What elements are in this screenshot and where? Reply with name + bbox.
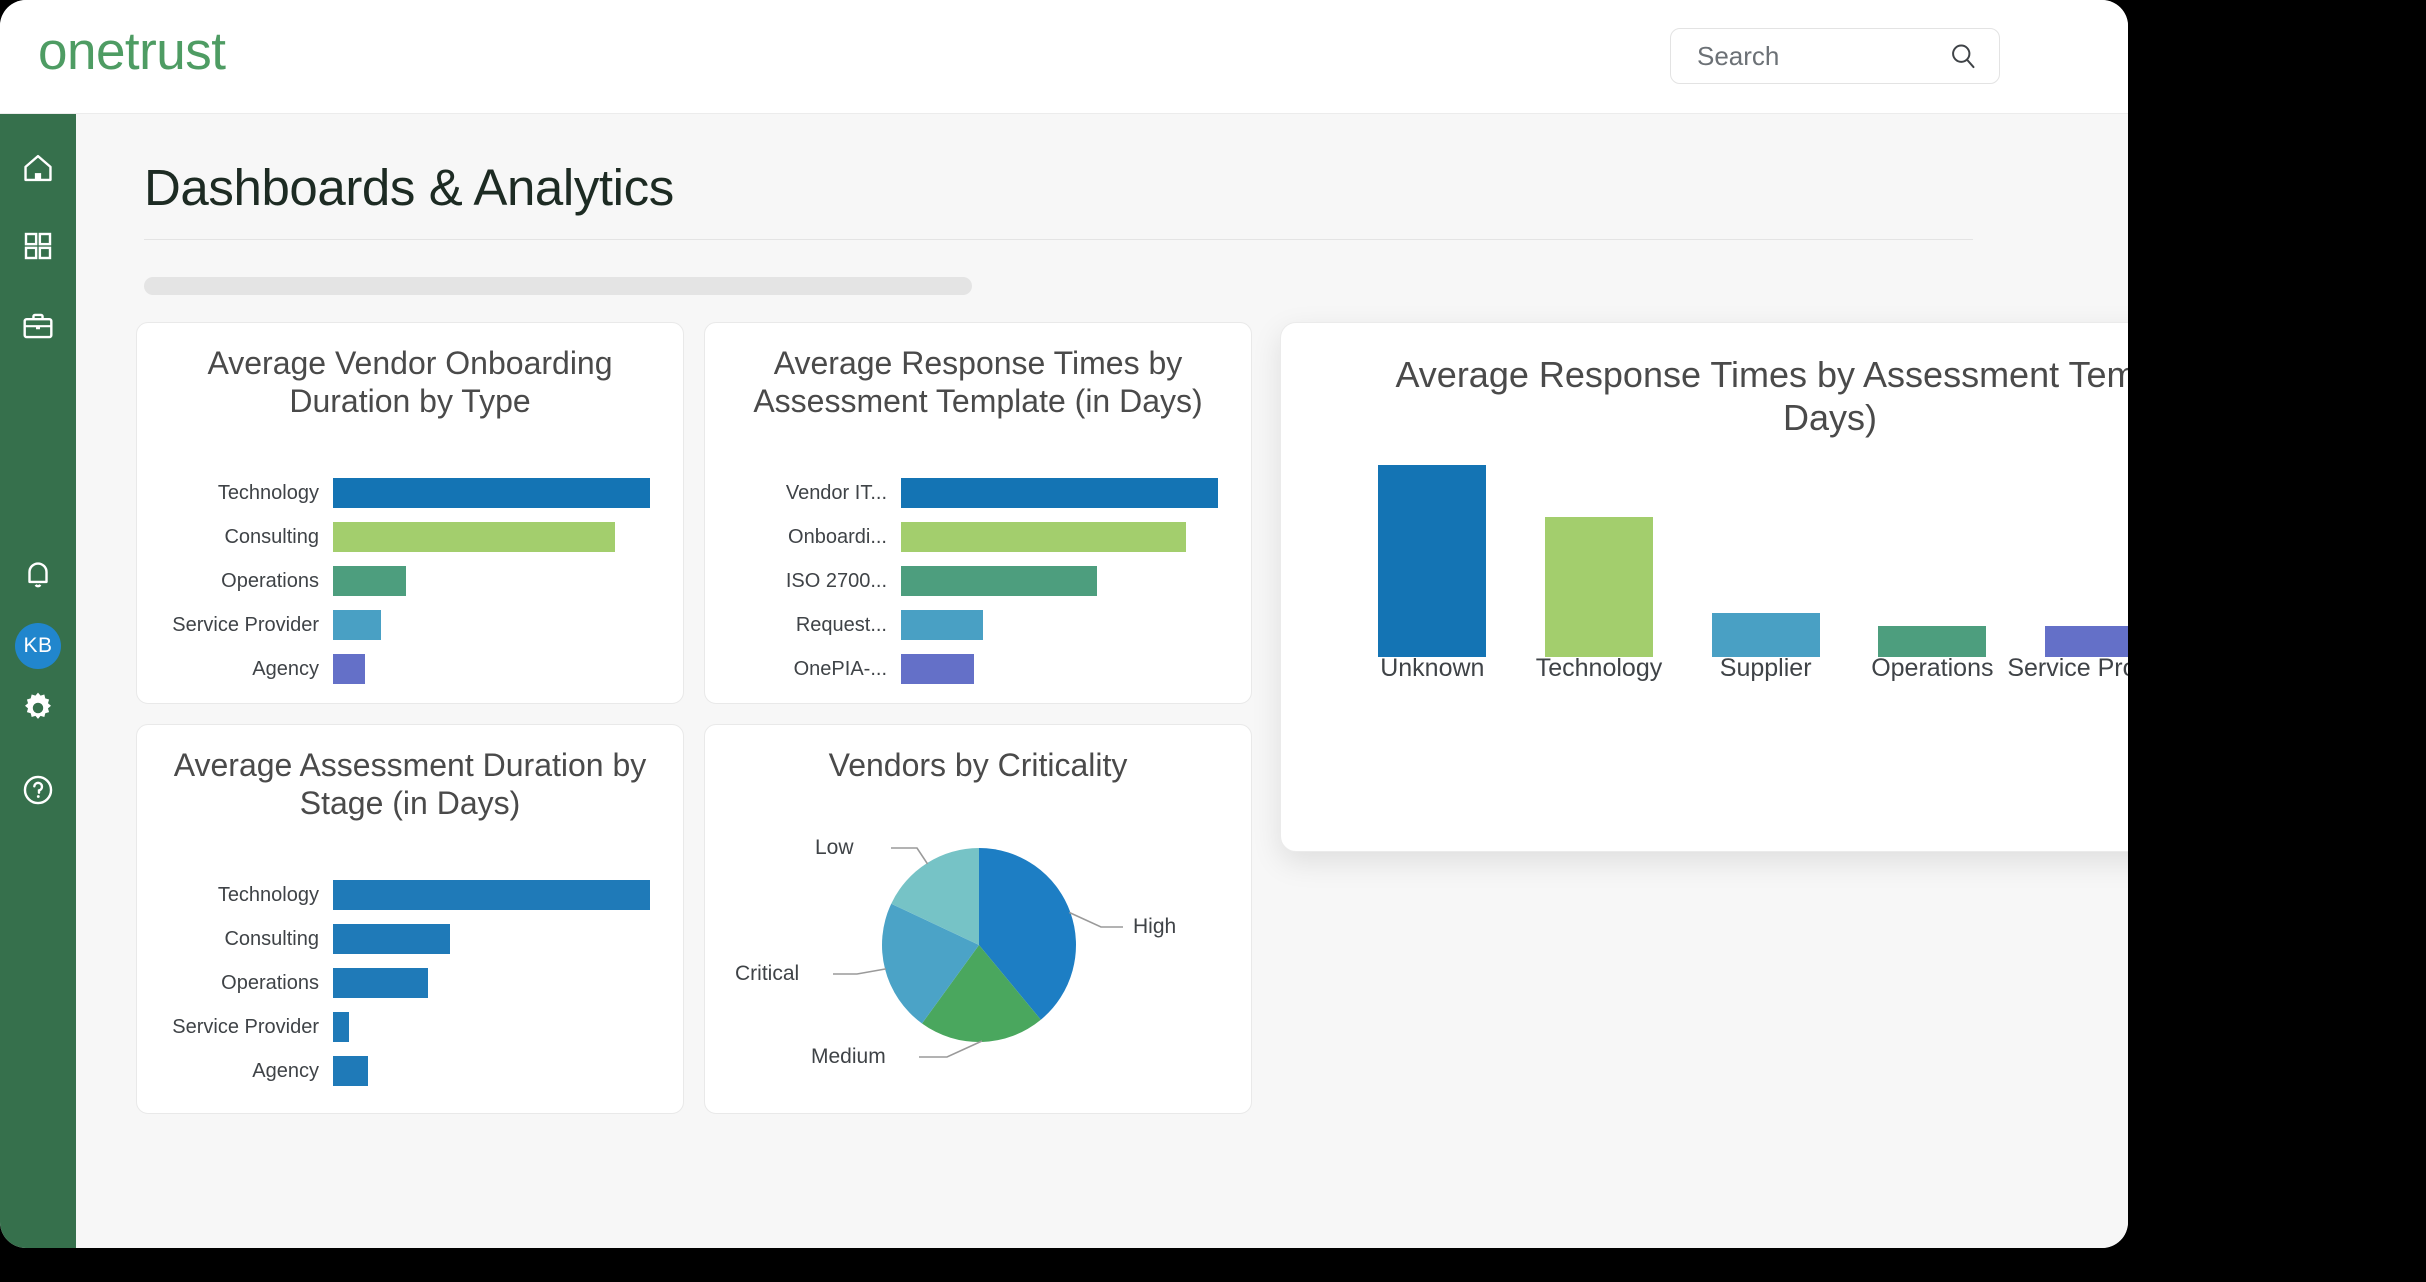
bar-track [333,515,683,559]
bar-fill[interactable] [333,566,406,596]
bar-track [333,1049,683,1093]
horizontal-bar-chart: TechnologyConsultingOperationsService Pr… [137,471,683,691]
bar-label: Consulting [137,928,333,951]
app-window: onetrust [0,0,2128,1248]
filter-bar-placeholder[interactable] [144,277,972,295]
bar-row: OnePIA-... [705,647,1251,691]
bar-row: Agency [137,1049,683,1093]
bar-row: Service Provider [137,603,683,647]
bar-fill[interactable] [901,478,1218,508]
avatar: KB [15,623,61,669]
bar-track [333,559,683,603]
bar-track [901,471,1251,515]
pie-leader-line [833,969,886,974]
bar-column: Supplier [1682,443,1849,743]
bar-label: Consulting [137,526,333,549]
panel-response-times-large[interactable]: Average Response Times by Assessment Tem… [1280,322,2128,852]
pie-slice-label: Critical [735,962,799,986]
bar-row: Agency [137,647,683,691]
bar-column: Unknown [1349,443,1516,743]
bar-row: Consulting [137,515,683,559]
bar-label: Service Provider [137,614,333,637]
panel-title: Average Response Times by Assessment Tem… [1371,353,2128,439]
card-vendor-onboarding[interactable]: Average Vendor Onboarding Duration by Ty… [136,322,684,704]
search-box[interactable] [1670,28,2000,84]
bar-fill[interactable] [333,880,650,910]
bar-fill[interactable] [333,610,381,640]
sidebar-item-notifications[interactable] [0,542,76,606]
bar-track [901,515,1251,559]
bar-fill[interactable] [1378,465,1486,657]
bar-label: OnePIA-... [705,658,901,681]
bar-label: Technology [1536,654,1662,683]
bar-label: Unknown [1380,654,1484,683]
card-assessment-duration[interactable]: Average Assessment Duration by Stage (in… [136,724,684,1114]
bar-track [333,471,683,515]
bar-label: Vendor IT... [705,482,901,505]
card-title: Average Assessment Duration by Stage (in… [161,747,659,823]
bar-fill[interactable] [333,478,650,508]
bar-label: Agency [137,658,333,681]
card-title: Average Response Times by Assessment Tem… [729,345,1227,421]
pie-svg [705,835,1253,1075]
brand-logo[interactable]: onetrust [38,25,226,78]
bar-row: Technology [137,471,683,515]
bar-track [333,603,683,647]
page-title: Dashboards & Analytics [144,158,674,217]
bar-label: Service Provider [137,1016,333,1039]
pie-leader-line [1069,912,1123,927]
bar-track [333,961,683,1005]
card-title: Vendors by Criticality [729,747,1227,785]
bar-label: Operations [137,972,333,995]
bar-column: Service Provider [2016,443,2128,743]
horizontal-bar-chart: Vendor IT...Onboardi...ISO 2700...Reques… [705,471,1251,691]
bell-icon [21,557,55,591]
search-input[interactable] [1697,29,1937,83]
horizontal-bar-chart: TechnologyConsultingOperationsService Pr… [137,873,683,1093]
bar-fill[interactable] [901,522,1186,552]
bar-fill[interactable] [333,522,615,552]
bar-column: Operations [1849,443,2016,743]
grid-icon [22,230,54,262]
bar-row: Request... [705,603,1251,647]
card-title: Average Vendor Onboarding Duration by Ty… [161,345,659,421]
bar-fill[interactable] [901,654,974,684]
home-icon [21,151,55,185]
card-vendors-by-criticality[interactable]: Vendors by Criticality HighMediumCritica… [704,724,1252,1114]
bar-track [901,559,1251,603]
sidebar: KB [0,114,76,1248]
bar-fill[interactable] [333,968,428,998]
sidebar-item-dashboards[interactable] [0,214,76,278]
bar-label: Supplier [1720,654,1812,683]
bar-fill[interactable] [1878,626,1986,657]
bar-column: Technology [1516,443,1683,743]
bar-track [333,647,683,691]
bar-track [333,873,683,917]
bar-track [333,917,683,961]
bar-label: Onboardi... [705,526,901,549]
bar-label: ISO 2700... [705,570,901,593]
bar-row: Operations [137,559,683,603]
bar-track [901,603,1251,647]
bar-row: Vendor IT... [705,471,1251,515]
bar-fill[interactable] [2045,626,2128,657]
pie-slice-label: Low [815,836,854,860]
gear-icon [19,689,57,727]
bar-label: Operations [1871,654,1993,683]
sidebar-item-home[interactable] [0,136,76,200]
bar-row: Onboardi... [705,515,1251,559]
bar-fill[interactable] [333,1056,368,1086]
app-header: onetrust [0,0,2128,114]
pie-leader-line [891,848,928,864]
bar-label: Technology [137,482,333,505]
bar-fill[interactable] [901,566,1097,596]
bar-row: ISO 2700... [705,559,1251,603]
bar-fill[interactable] [1545,517,1653,657]
title-divider [144,239,1973,240]
bar-fill[interactable] [333,1012,349,1042]
bar-track [333,1005,683,1049]
bar-fill[interactable] [1712,613,1820,657]
sidebar-item-profile[interactable]: KB [0,614,76,678]
vertical-bar-chart: UnknownTechnologySupplierOperationsServi… [1349,443,2128,743]
bar-label: Request... [705,614,901,637]
bar-fill[interactable] [333,924,450,954]
bar-row: Consulting [137,917,683,961]
card-response-times-small[interactable]: Average Response Times by Assessment Tem… [704,322,1252,704]
bar-fill[interactable] [333,654,365,684]
bar-row: Operations [137,961,683,1005]
question-circle-icon [21,773,55,807]
sidebar-item-help[interactable] [0,758,76,822]
bar-label: Operations [137,570,333,593]
bar-row: Technology [137,873,683,917]
pie-slice-label: Medium [811,1045,886,1069]
bar-label: Agency [137,1060,333,1083]
sidebar-item-vendors[interactable] [0,294,76,358]
briefcase-icon [21,309,55,343]
sidebar-item-settings[interactable] [0,676,76,740]
bar-fill[interactable] [901,610,983,640]
search-icon[interactable] [1949,42,1977,70]
bar-label: Service Provider [2007,654,2128,683]
pie-chart: HighMediumCriticalLow [705,835,1251,1115]
pie-leader-line [919,1041,982,1057]
pie-slice-label: High [1133,915,1176,939]
bar-label: Technology [137,884,333,907]
bar-track [901,647,1251,691]
bar-row: Service Provider [137,1005,683,1049]
